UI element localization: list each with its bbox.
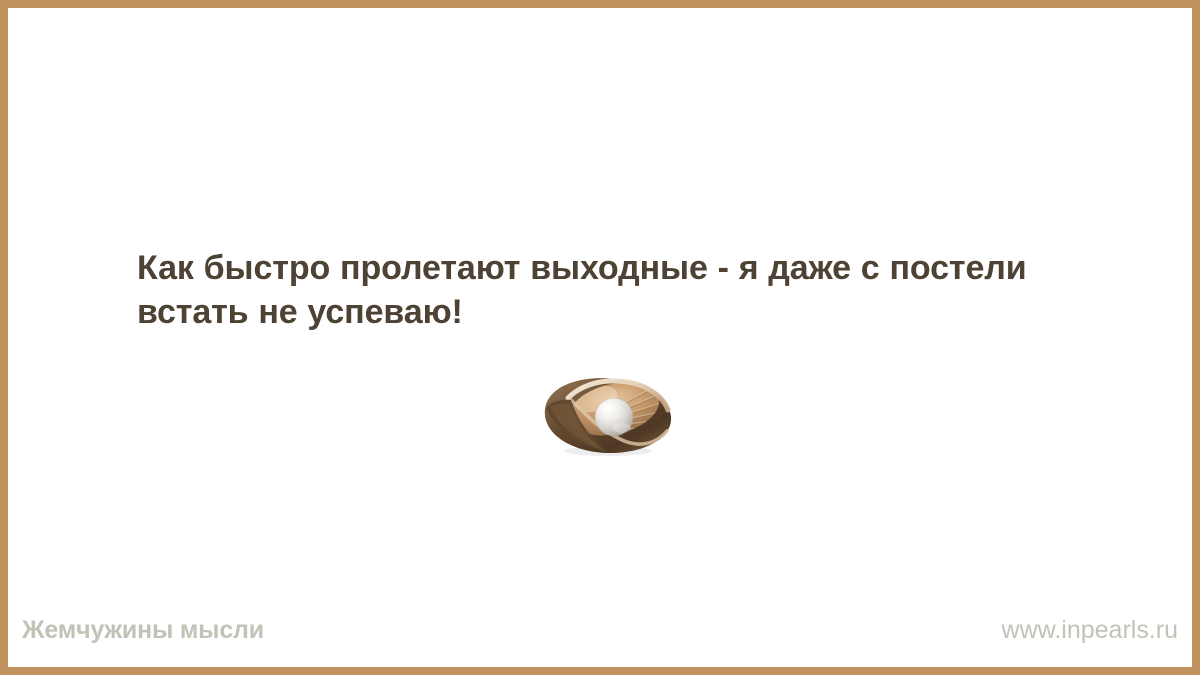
quote-text: Как быстро пролетают выходные - я даже с… — [137, 246, 1092, 334]
site-name: Жемчужины мысли — [22, 615, 264, 645]
site-url-link[interactable]: www.inpearls.ru — [1002, 615, 1178, 645]
oyster-shell-with-pearl-icon — [538, 371, 678, 459]
footer: Жемчужины мысли www.inpearls.ru — [8, 615, 1192, 645]
quote-card: Как быстро пролетают выходные - я даже с… — [0, 0, 1200, 675]
